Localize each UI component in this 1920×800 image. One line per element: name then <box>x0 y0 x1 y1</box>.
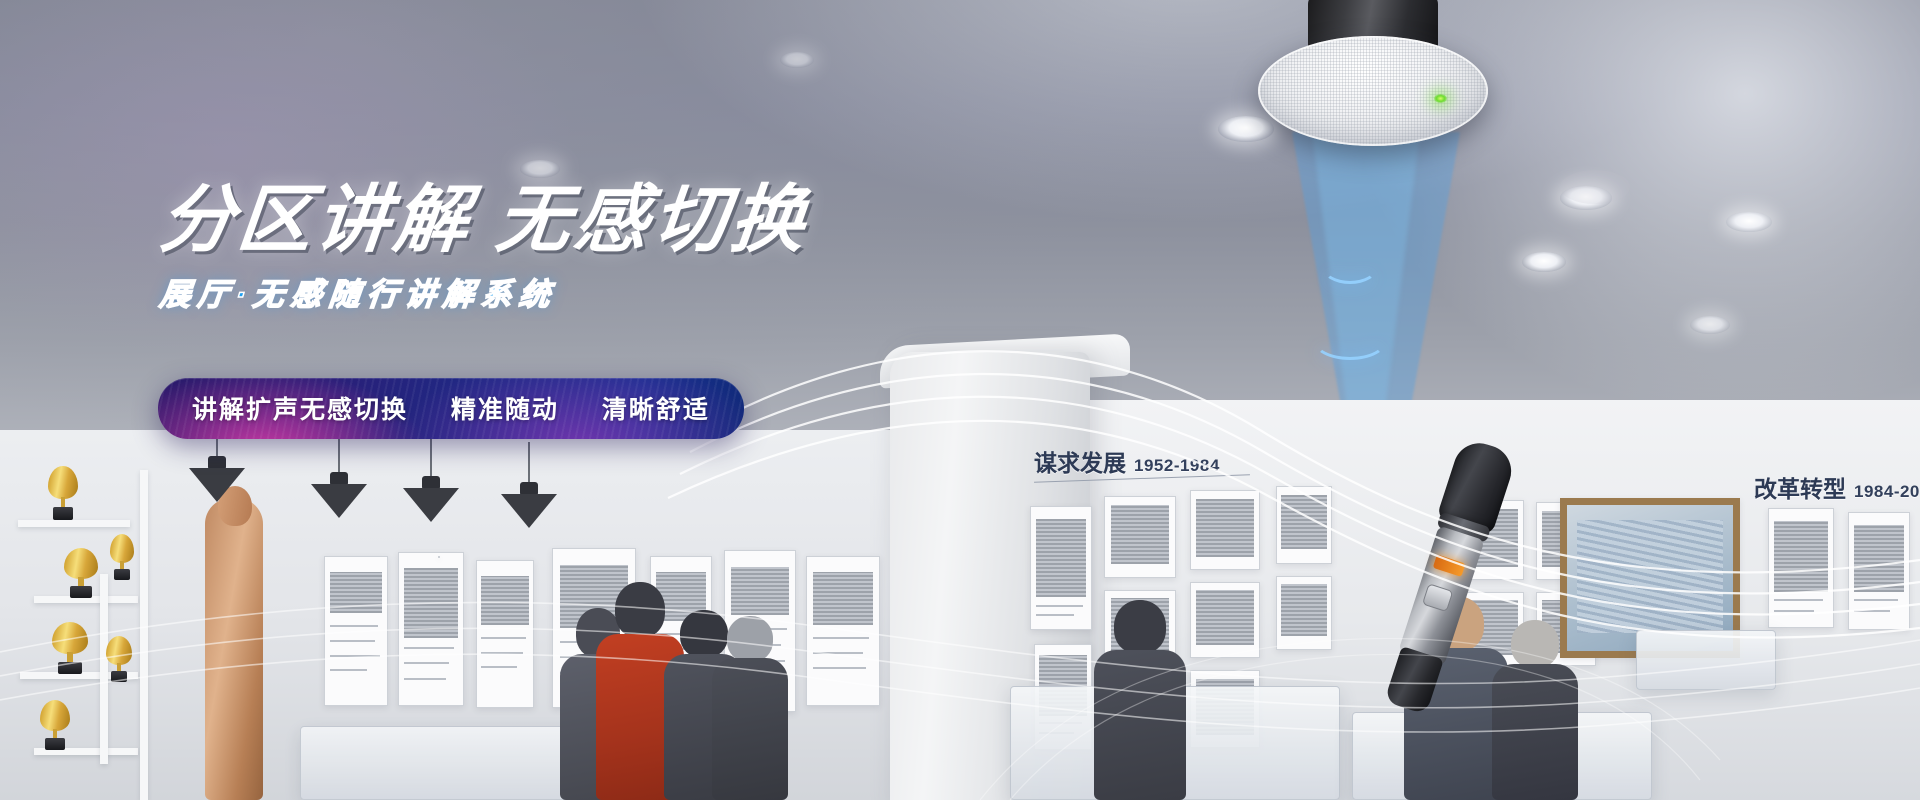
sound-wave-arc <box>1312 318 1388 360</box>
promo-banner: 谋求发展1952-1984 改革转型1984-2010 <box>0 0 1920 800</box>
exhibit-section-title: 谋求发展 <box>1034 450 1126 476</box>
pendant-lamp-shade <box>403 488 459 522</box>
exhibit-photo <box>1276 576 1332 650</box>
exhibit-section-title: 改革转型 <box>1754 476 1846 502</box>
exhibit-section-label: 改革转型1984-2010 <box>1754 470 1920 504</box>
exhibit-panel <box>806 556 880 706</box>
visitor <box>1094 600 1186 800</box>
exhibit-section-label: 谋求发展1952-1984 <box>1034 444 1220 478</box>
exhibit-photo <box>1276 486 1332 564</box>
trophy-icon <box>48 466 78 520</box>
downlight-icon <box>780 52 814 68</box>
visitor-head <box>1511 620 1559 668</box>
exhibit-panel <box>398 552 464 706</box>
pendant-lamp-shade <box>189 468 245 502</box>
exhibit-photo <box>1104 496 1176 578</box>
page-subtitle: 展厅·无感随行讲解系统 <box>158 269 923 314</box>
trophy-icon <box>106 636 132 682</box>
trophy-shelf <box>18 520 130 527</box>
display-case <box>1636 630 1776 690</box>
trophy-icon <box>110 534 134 580</box>
ceiling-vent-icon <box>1560 170 1630 204</box>
visitor-head <box>727 616 773 662</box>
visitor-head <box>615 582 665 638</box>
pendant-lamp-cord <box>430 434 432 482</box>
feature-item: 清晰舒适 <box>602 390 710 426</box>
visitor-body <box>1492 664 1578 800</box>
exhibit-photo <box>1848 512 1910 630</box>
downlight-icon <box>1522 252 1566 272</box>
pendant-lamp-shade <box>501 494 557 528</box>
downlight-icon <box>1726 212 1772 232</box>
visitor <box>1492 620 1578 800</box>
trophy-icon <box>64 548 98 598</box>
trophy-icon <box>52 622 88 674</box>
visitor <box>712 616 788 800</box>
feature-pill: 讲解扩声无感切换 精准随动 清晰舒适 <box>158 378 744 439</box>
page-title: 分区讲解 无感切换 <box>156 182 924 257</box>
exhibit-panel <box>324 556 388 706</box>
exhibit-section-years: 1952-1984 <box>1134 456 1220 475</box>
feature-item: 精准随动 <box>451 390 559 426</box>
exhibit-photo <box>1030 506 1092 630</box>
exhibit-photo <box>1190 582 1260 658</box>
feature-item: 讲解扩声无感切换 <box>192 390 408 426</box>
downlight-icon <box>1690 316 1730 334</box>
headline-block: 分区讲解 无感切换 展厅·无感随行讲解系统 <box>160 182 920 314</box>
exhibit-photo <box>1190 490 1260 570</box>
trophy-icon <box>40 700 70 750</box>
trophy-shelf <box>140 470 148 800</box>
exhibit-photo <box>1768 508 1834 628</box>
sound-wave-arc <box>1322 250 1378 284</box>
pendant-lamp-shade <box>311 484 367 518</box>
ceiling-speaker <box>1258 0 1488 154</box>
speaker-status-led <box>1434 94 1447 103</box>
sculpture <box>205 498 263 800</box>
exhibit-section-years: 1984-2010 <box>1854 482 1920 501</box>
portrait-frame <box>438 556 440 558</box>
visitor-body <box>712 658 788 800</box>
visitor-head <box>1114 600 1166 654</box>
speaker-rim <box>1258 36 1488 146</box>
downlight-icon <box>520 160 560 178</box>
visitor-body <box>1094 650 1186 800</box>
exhibit-panel <box>476 560 534 708</box>
